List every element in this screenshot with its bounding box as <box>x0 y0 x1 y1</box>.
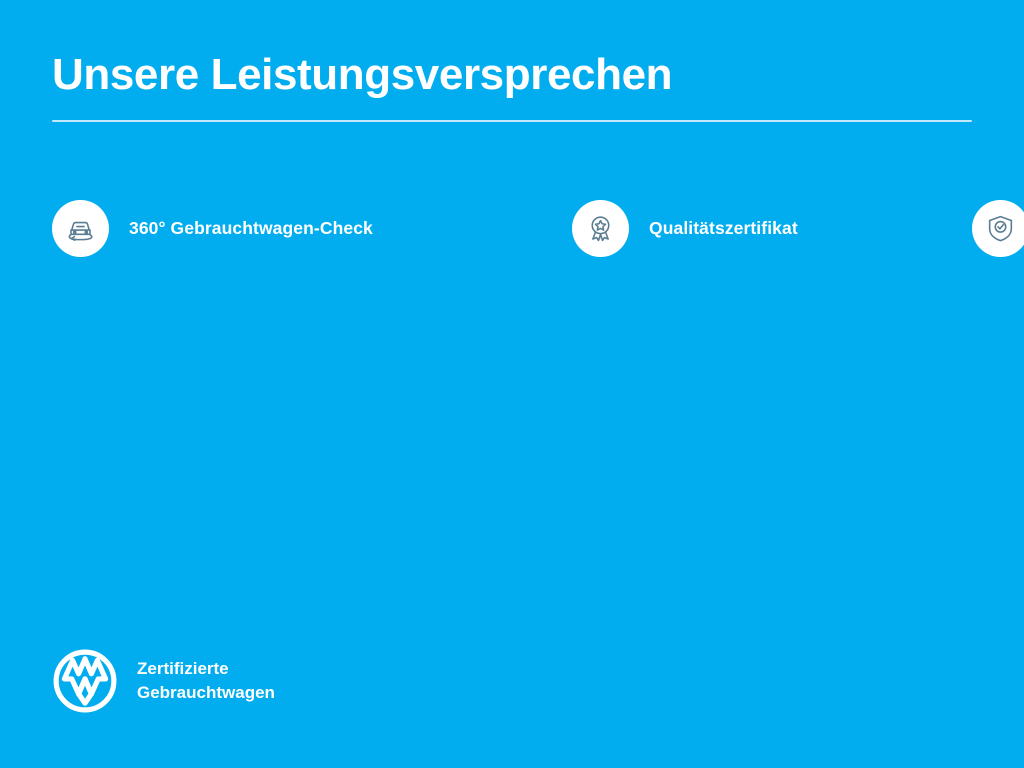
brand-footer: Zertifizierte Gebrauchtwagen <box>52 648 275 714</box>
feature-label: Qualitätszertifikat <box>649 218 798 239</box>
brand-text: Zertifizierte Gebrauchtwagen <box>137 657 275 705</box>
promise-slide: Unsere Leistungsversprechen 360° Gebrauc… <box>0 0 1024 768</box>
feature-item-quality-certificate[interactable]: Qualitätszertifikat <box>572 200 972 257</box>
feature-item-360-check[interactable]: 360° Gebrauchtwagen-Check <box>52 200 572 257</box>
brand-line-2: Gebrauchtwagen <box>137 681 275 705</box>
header: Unsere Leistungsversprechen <box>52 52 972 122</box>
feature-item-warranty[interactable]: Gebrauchtwagengarantie <box>972 200 1024 257</box>
brand-line-1: Zertifizierte <box>137 657 275 681</box>
car-360-check-icon <box>52 200 109 257</box>
title-divider <box>52 120 972 122</box>
page-title: Unsere Leistungsversprechen <box>52 52 972 98</box>
award-rosette-icon <box>572 200 629 257</box>
volkswagen-logo-icon <box>52 648 118 714</box>
feature-list: 360° Gebrauchtwagen-Check Qualitätszerti… <box>52 200 972 277</box>
shield-check-icon <box>972 200 1024 257</box>
feature-label: 360° Gebrauchtwagen-Check <box>129 218 373 239</box>
